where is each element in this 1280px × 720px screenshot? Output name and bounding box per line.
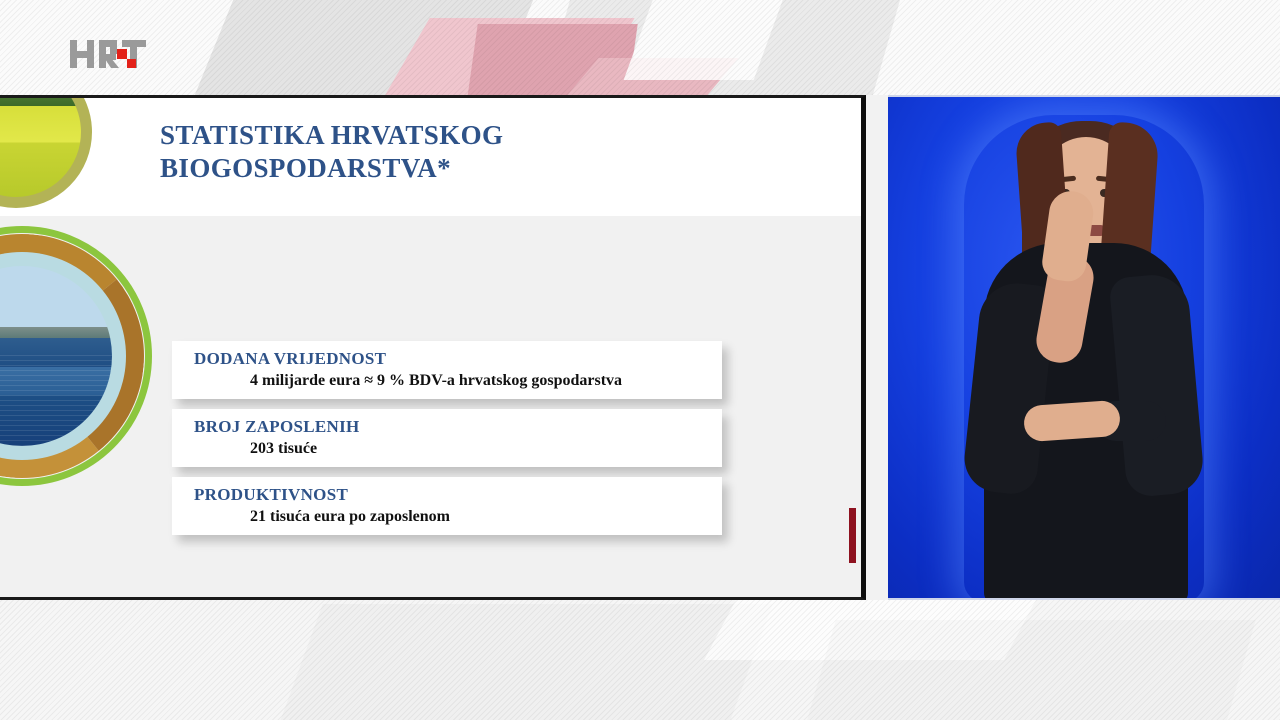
- stat-card-value: 21 tisuća eura po zaposlenom: [250, 508, 450, 526]
- stat-card: BROJ ZAPOSLENIH 203 tisuće: [172, 409, 722, 467]
- stat-card: PRODUKTIVNOST 21 tisuća eura po zaposlen…: [172, 477, 722, 535]
- hrt-logo-icon: [70, 38, 160, 72]
- broadcast-screen: STATISTIKA HRVATSKOG BIOGOSPODARSTVA* DO…: [0, 0, 1280, 720]
- stat-card-title: DODANA VRIJEDNOST: [194, 349, 386, 369]
- stat-card: DODANA VRIJEDNOST 4 milijarde eura ≈ 9 %…: [172, 341, 722, 399]
- background-bottom-band: [0, 600, 1280, 720]
- background-top-band: [0, 0, 1280, 95]
- interpreter-hand-lower: [1023, 400, 1121, 443]
- slide-title-line-2: BIOGOSPODARSTVA*: [160, 152, 780, 185]
- stat-card-value: 4 milijarde eura ≈ 9 % BDV-a hrvatskog g…: [250, 372, 622, 390]
- stat-card-title: PRODUKTIVNOST: [194, 485, 348, 505]
- interpreter-figure: [950, 115, 1218, 600]
- slide-panel: STATISTIKA HRVATSKOG BIOGOSPODARSTVA* DO…: [0, 95, 866, 600]
- hrt-logo: [70, 38, 160, 72]
- statistics-card-list: DODANA VRIJEDNOST 4 milijarde eura ≈ 9 %…: [172, 341, 722, 545]
- stat-card-value: 203 tisuće: [250, 440, 317, 458]
- slide-title: STATISTIKA HRVATSKOG BIOGOSPODARSTVA*: [160, 119, 780, 185]
- stat-card-title: BROJ ZAPOSLENIH: [194, 417, 360, 437]
- slide-edge-marker: [849, 508, 856, 563]
- bg-hatch-top: [0, 0, 1280, 95]
- bg-hatch-bottom: [0, 600, 1280, 720]
- sea-ripple: [0, 352, 112, 446]
- sign-language-interpreter-panel: [888, 95, 1280, 600]
- slide-title-line-1: STATISTIKA HRVATSKOG: [160, 119, 780, 152]
